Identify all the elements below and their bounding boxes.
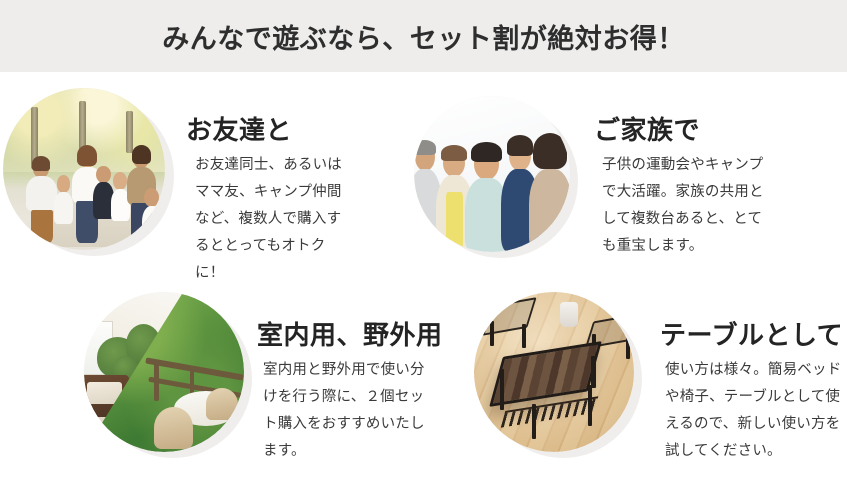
card-family-title: ご家族で bbox=[594, 110, 700, 147]
promo-page: みんなで遊ぶなら、セット割が絶対お得！ bbox=[0, 0, 847, 479]
card-as-table-title: テーブルとして bbox=[660, 315, 843, 352]
card-indoor-outdoor-body: 室内用と野外用で使い分けを行う際に、２個セット購入をおすすめいたします。 bbox=[263, 357, 433, 465]
card-indoor-outdoor-title: 室内用、野外用 bbox=[257, 315, 443, 352]
family-portrait-photo bbox=[414, 96, 570, 252]
page-title: みんなで遊ぶなら、セット割が絶対お得！ bbox=[0, 0, 847, 72]
card-as-table-body: 使い方は様々。簡易ベッドや椅子、テーブルとして使えるので、新しい使い方を試してく… bbox=[665, 357, 845, 465]
card-friends-body: お友達同士、あるいはママ友、キャンプ仲間など、複数人で購入するととってもオトクに… bbox=[195, 152, 353, 287]
card-family-body: 子供の運動会やキャンプで大活躍。家族の共用として複数台あると、とても重宝します。 bbox=[602, 152, 770, 260]
card-friends-title: お友達と bbox=[186, 110, 292, 147]
coffee-table-photo bbox=[474, 292, 634, 452]
friends-park-photo bbox=[3, 88, 165, 250]
indoor-outdoor-split-photo bbox=[84, 292, 244, 452]
